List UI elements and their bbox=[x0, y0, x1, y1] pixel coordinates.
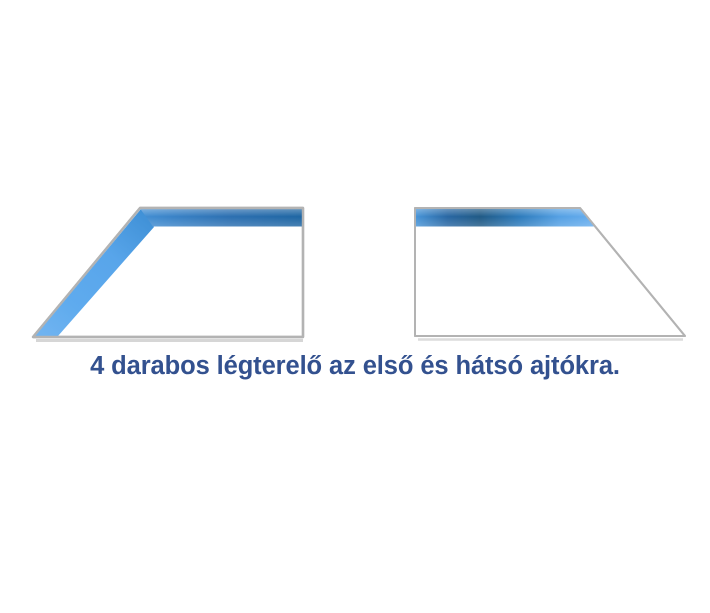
deflector-svg bbox=[0, 0, 710, 360]
front-deflector-gloss bbox=[140, 209, 302, 227]
rear-door-deflector-shape bbox=[415, 208, 685, 340]
deflector-shapes-area bbox=[0, 0, 710, 360]
front-door-deflector-shape bbox=[33, 208, 303, 341]
product-illustration: 4 darabos légterelő az első és hátsó ajt… bbox=[0, 0, 710, 613]
rear-deflector-gloss bbox=[416, 209, 595, 227]
rear-window-glass bbox=[415, 208, 685, 336]
product-caption: 4 darabos légterelő az első és hátsó ajt… bbox=[0, 352, 710, 381]
